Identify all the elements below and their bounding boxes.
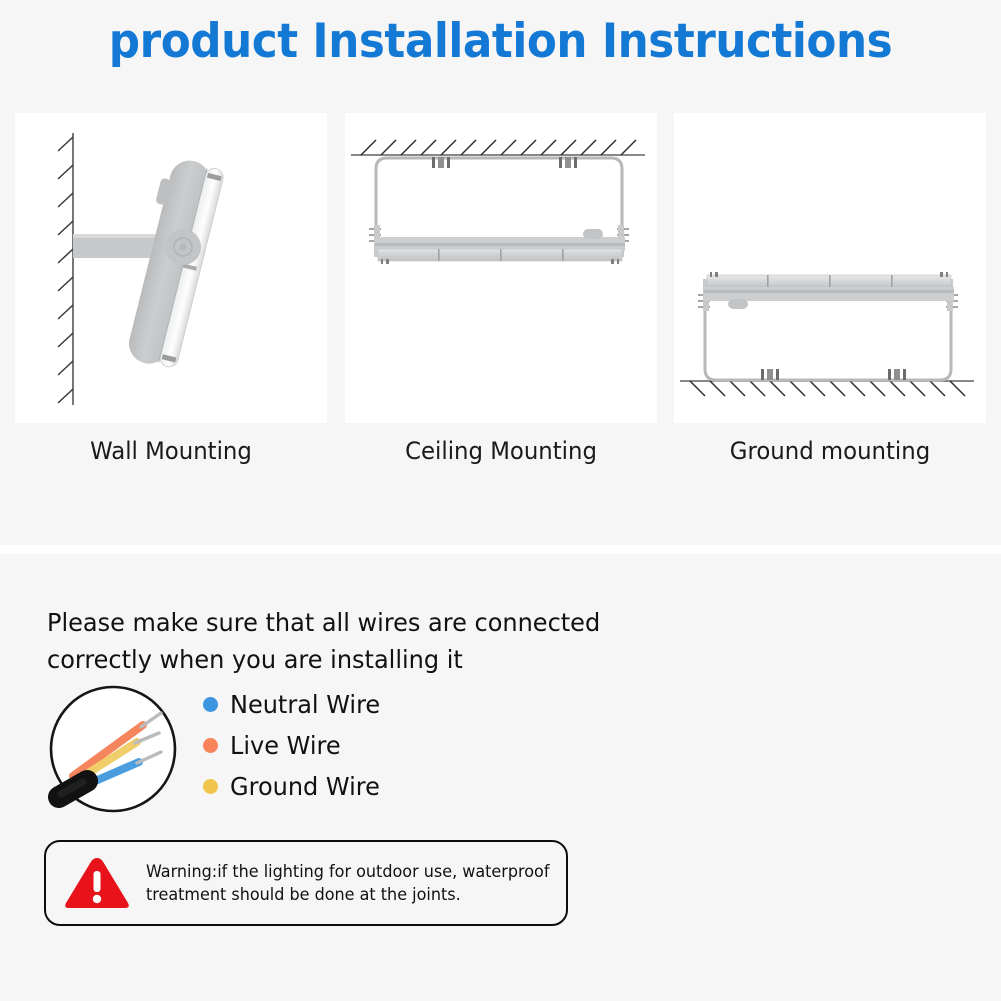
legend-label-neutral: Neutral Wire bbox=[230, 690, 380, 719]
legend-label-ground: Ground Wire bbox=[230, 772, 380, 801]
mounting-card-ceiling bbox=[345, 113, 657, 423]
warning-box: Warning:if the lighting for outdoor use,… bbox=[44, 840, 568, 926]
section-divider bbox=[0, 545, 1001, 554]
ceiling-mounting-diagram bbox=[345, 113, 657, 423]
stripped-cable-icon bbox=[45, 684, 181, 814]
wiring-legend-area: Neutral Wire Live Wire Ground Wire bbox=[45, 684, 605, 814]
caption-ceiling-mounting: Ceiling Mounting bbox=[352, 437, 648, 477]
caption-ground-mounting: Ground mounting bbox=[682, 437, 978, 477]
legend-item-neutral: Neutral Wire bbox=[203, 685, 603, 723]
wiring-notice: Please make sure that all wires are conn… bbox=[47, 604, 661, 678]
warning-text-line-2: treatment should be done at the joints. bbox=[146, 883, 549, 906]
legend-item-ground: Ground Wire bbox=[203, 767, 603, 805]
neutral-wire-color-dot bbox=[203, 697, 218, 712]
page-title: product Installation Instructions bbox=[35, 14, 966, 69]
wire-legend: Neutral Wire Live Wire Ground Wire bbox=[203, 685, 603, 808]
warning-triangle-icon bbox=[62, 853, 132, 913]
wiring-notice-line-2: correctly when you are installing it bbox=[47, 641, 661, 678]
legend-label-live: Live Wire bbox=[230, 731, 341, 760]
ground-mounting-diagram bbox=[674, 113, 986, 423]
installation-instructions-page: product Installation Instructions bbox=[0, 0, 1001, 1001]
warning-text-line-1: Warning:if the lighting for outdoor use,… bbox=[146, 860, 549, 883]
wall-mounting-diagram bbox=[15, 113, 327, 423]
legend-item-live: Live Wire bbox=[203, 726, 603, 764]
live-wire-color-dot bbox=[203, 738, 218, 753]
mounting-captions: Wall Mounting Ceiling Mounting Ground mo… bbox=[15, 437, 986, 477]
mounting-card-wall bbox=[15, 113, 327, 423]
caption-wall-mounting: Wall Mounting bbox=[23, 437, 319, 477]
mounting-card-ground bbox=[674, 113, 986, 423]
mounting-cards bbox=[15, 113, 986, 423]
ground-wire-color-dot bbox=[203, 779, 218, 794]
warning-text: Warning:if the lighting for outdoor use,… bbox=[146, 860, 549, 906]
wiring-notice-line-1: Please make sure that all wires are conn… bbox=[47, 604, 661, 641]
